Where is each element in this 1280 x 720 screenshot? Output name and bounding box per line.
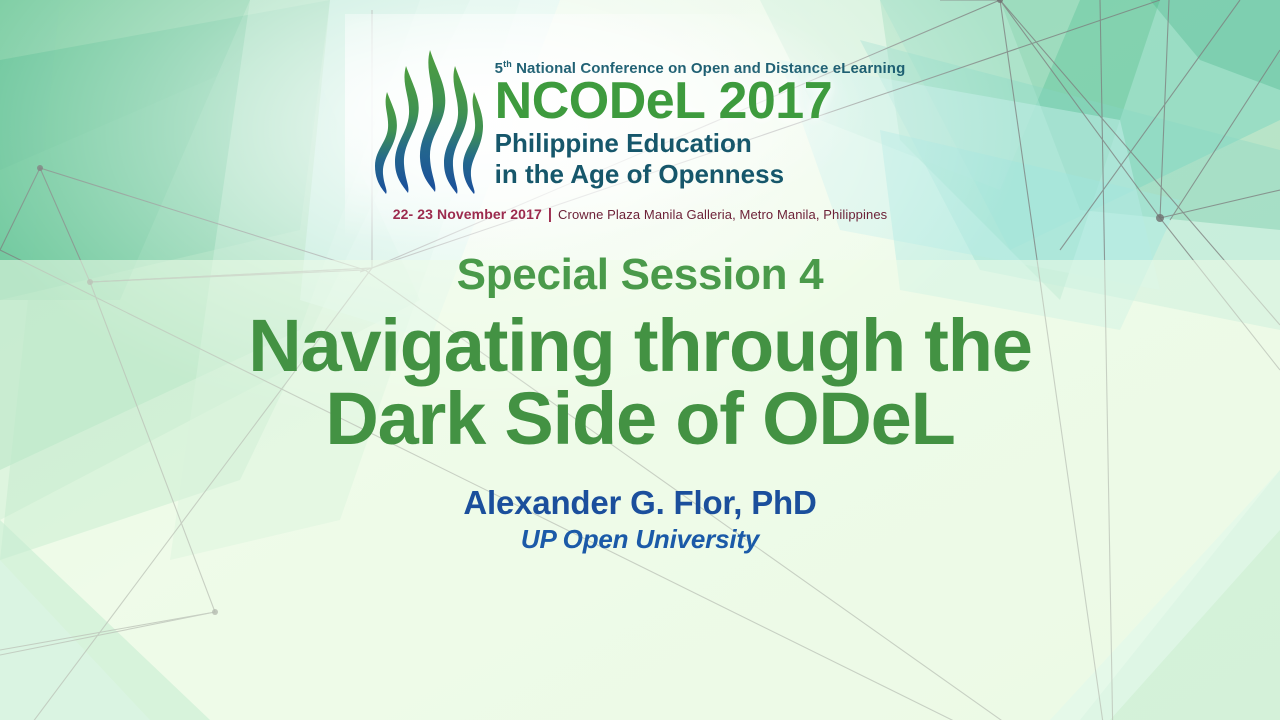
- title-slide: 5th National Conference on Open and Dist…: [0, 0, 1280, 720]
- event-venue: Crowne Plaza Manila Galleria, Metro Mani…: [558, 207, 887, 222]
- speaker-name: Alexander G. Flor, PhD: [463, 486, 816, 519]
- conference-theme-line-2: in the Age of Openness: [495, 161, 906, 188]
- conference-theme-line-1: Philippine Education: [495, 130, 906, 157]
- session-title: Navigating through the Dark Side of ODeL: [248, 309, 1031, 456]
- session-title-line-1: Navigating through the: [248, 309, 1031, 382]
- session-label: Special Session 4: [457, 253, 824, 297]
- session-title-line-2: Dark Side of ODeL: [248, 382, 1031, 455]
- ncodel-flame-logo-icon: [375, 44, 485, 194]
- speaker-affiliation: UP Open University: [521, 526, 759, 552]
- conference-branding: 5th National Conference on Open and Dist…: [375, 44, 906, 194]
- conference-ordinal-suffix: th: [503, 59, 512, 69]
- event-date: 22- 23 November 2017: [393, 206, 542, 222]
- date-venue-separator: |: [548, 206, 552, 223]
- event-name: NCODeL 2017: [495, 76, 906, 127]
- event-date-venue: 22- 23 November 2017 | Crowne Plaza Mani…: [393, 206, 888, 223]
